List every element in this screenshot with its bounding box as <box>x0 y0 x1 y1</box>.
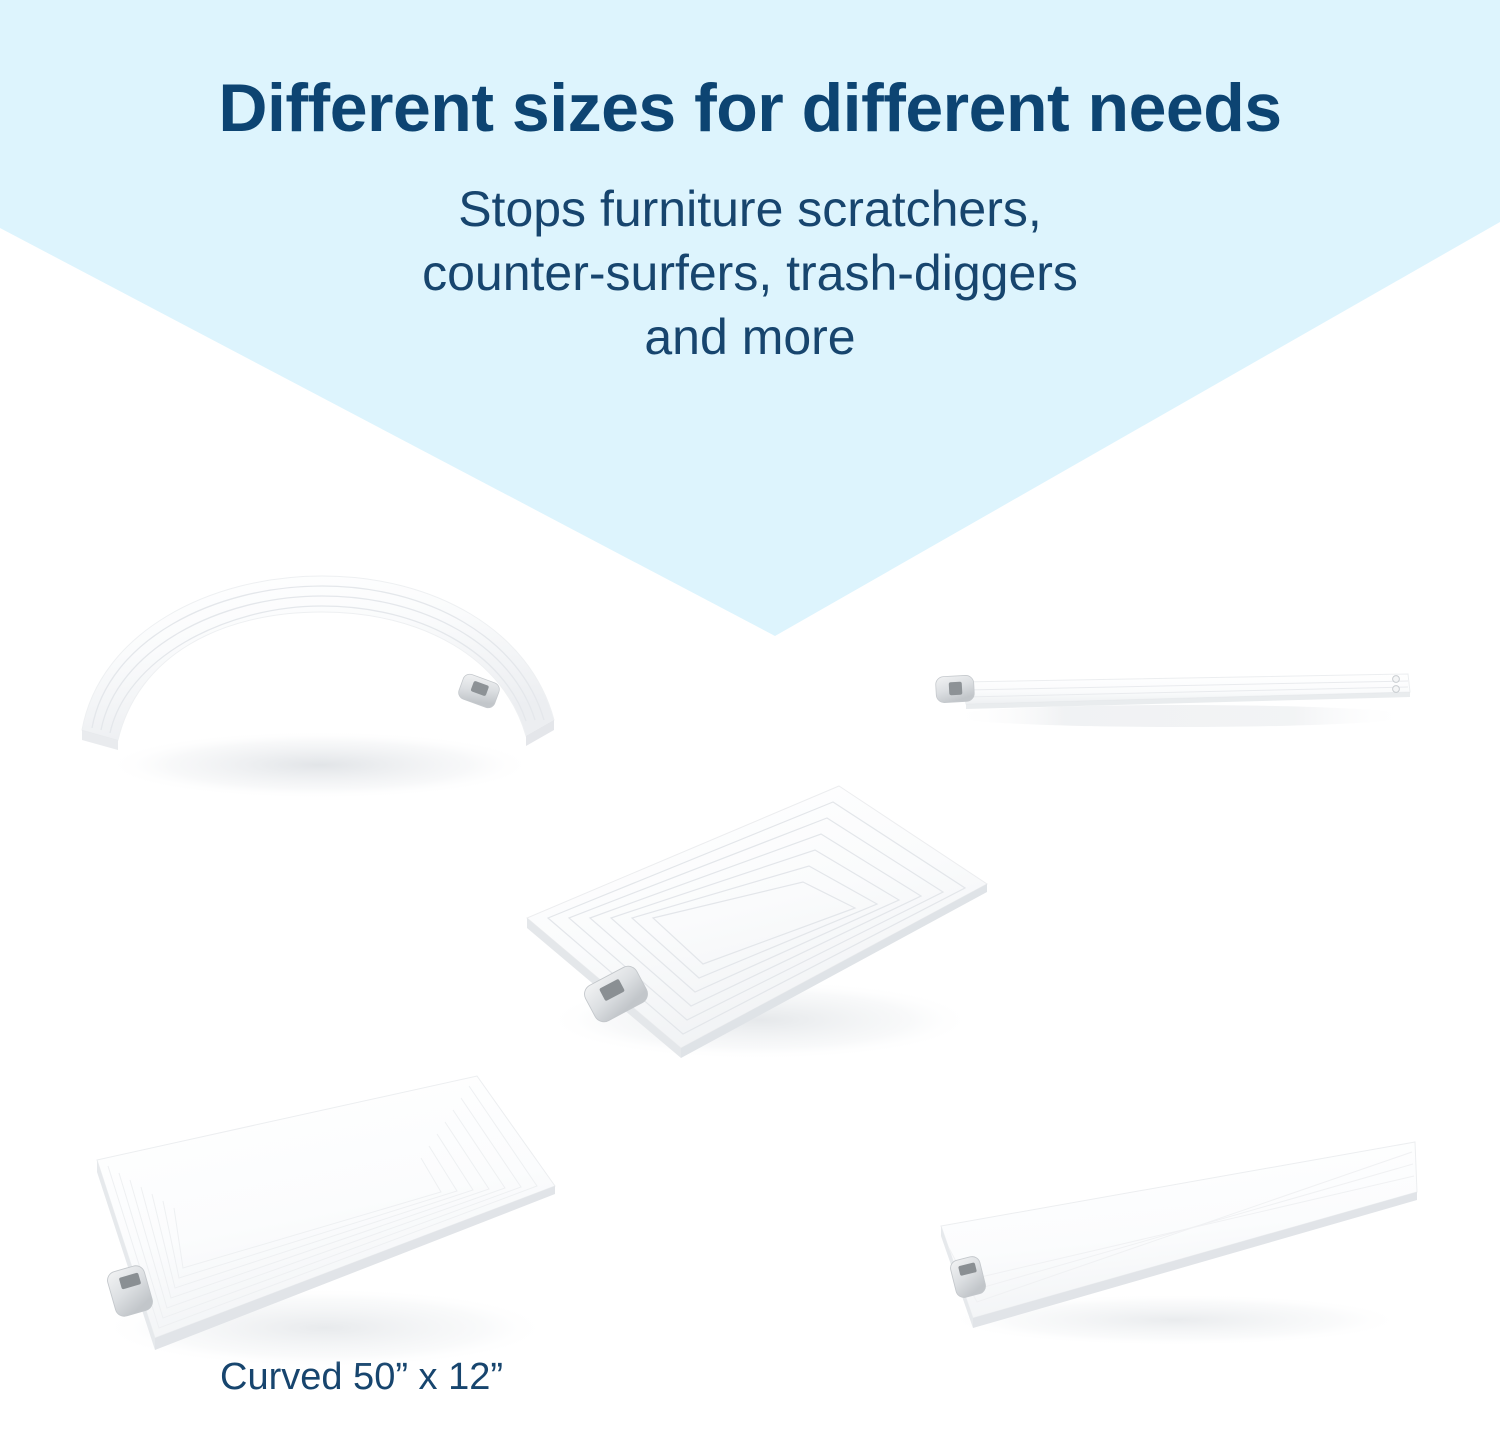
product-medium: Medium 30” x 16” <box>515 780 1005 1080</box>
sofa-mat-body <box>941 1142 1417 1318</box>
header-banner <box>0 0 1500 640</box>
strip-mat-shadow <box>950 705 1410 727</box>
product-curved: Curved 50” x 12” <box>60 560 580 810</box>
control-module-screen <box>949 682 963 696</box>
product-sofa: Sofa 60” x 12” <box>925 1130 1425 1360</box>
infographic-page: Different sizes for different needs Stop… <box>0 0 1500 1431</box>
curved-mat-image <box>60 560 580 810</box>
curved-mat-shadow <box>105 731 535 799</box>
strip-mat-control-module <box>935 675 974 703</box>
product-large: Large 48” x 20” <box>75 1070 565 1380</box>
sofa-mat-image <box>925 1130 1425 1360</box>
strip-mat-image <box>930 650 1430 760</box>
curved-mat-body <box>82 576 554 740</box>
product-strip: Strip 46” x 3” <box>930 650 1430 760</box>
large-mat-image <box>75 1070 565 1380</box>
medium-mat-image <box>515 780 1005 1080</box>
